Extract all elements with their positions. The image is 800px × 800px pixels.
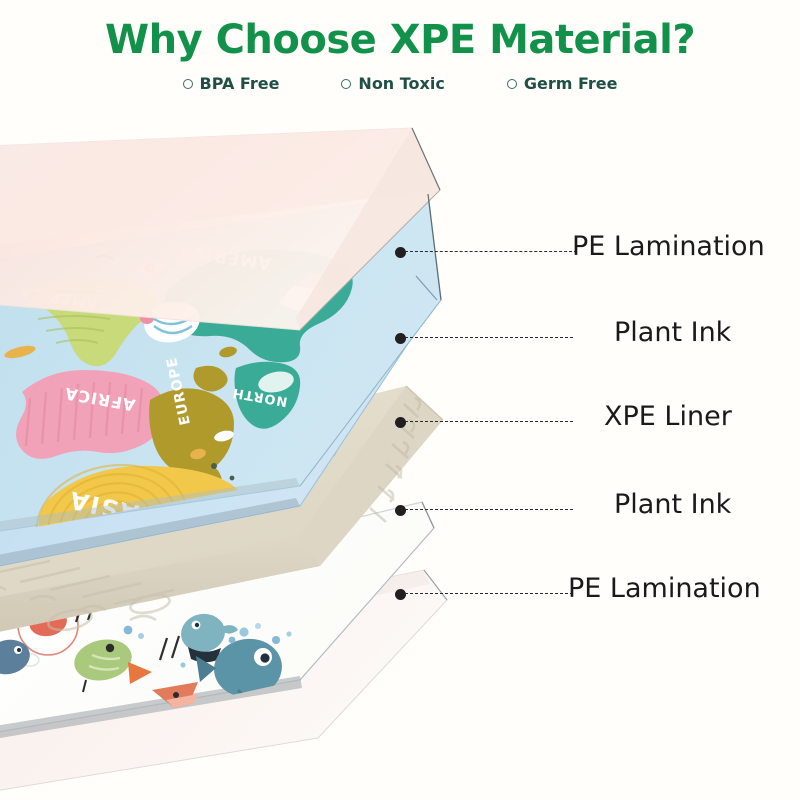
- callout-leader-line: [405, 251, 577, 252]
- callout-dot-icon: [395, 333, 406, 344]
- benefit-item-germ-free: Germ Free: [507, 74, 618, 93]
- callout-dot-icon: [395, 505, 406, 516]
- callout-label: Plant Ink: [614, 319, 731, 346]
- header: Why Choose XPE Material? BPA Free Non To…: [0, 0, 800, 120]
- circle-bullet-icon: [183, 79, 193, 89]
- circle-bullet-icon: [507, 79, 517, 89]
- callout-label: XPE Liner: [604, 403, 732, 430]
- callout-leader-line: [405, 421, 573, 422]
- callout-dot-icon: [395, 247, 406, 258]
- benefit-item-bpa-free: BPA Free: [183, 74, 280, 93]
- callout-label: PE Lamination: [568, 575, 761, 602]
- callout-dot-icon: [395, 417, 406, 428]
- infographic-canvas: Why Choose XPE Material? BPA Free Non To…: [0, 0, 800, 800]
- callout-label: PE Lamination: [572, 233, 765, 260]
- benefit-label: Non Toxic: [358, 74, 444, 93]
- callout-leader-line: [405, 337, 573, 338]
- callout-label: Plant Ink: [614, 491, 731, 518]
- callout-dot-icon: [395, 589, 406, 600]
- benefit-item-non-toxic: Non Toxic: [341, 74, 444, 93]
- callout-leader-line: [405, 593, 573, 594]
- benefit-label: BPA Free: [200, 74, 280, 93]
- benefit-list: BPA Free Non Toxic Germ Free: [0, 74, 800, 93]
- circle-bullet-icon: [341, 79, 351, 89]
- callout-leader-line: [405, 509, 573, 510]
- page-title: Why Choose XPE Material?: [0, 0, 800, 62]
- benefit-label: Germ Free: [524, 74, 618, 93]
- layer-stack-illustration: AMERICA NORTH AMERICA AFRICA EUROPE: [0, 0, 800, 800]
